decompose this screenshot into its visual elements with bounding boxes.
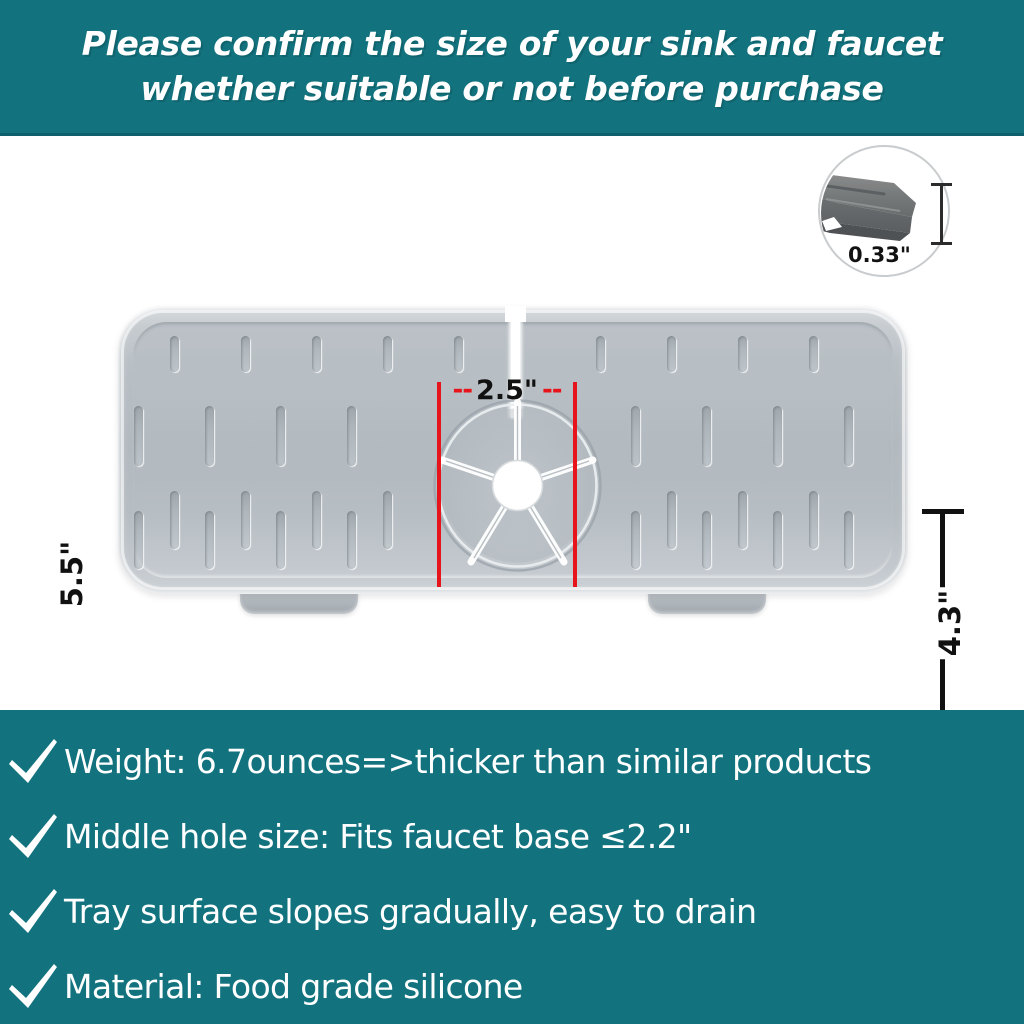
mat-ridge-slot: [205, 406, 214, 466]
mat-ridge-slot: [667, 491, 676, 549]
mat-ridge-slot: [631, 406, 640, 466]
thickness-label: 0.33": [848, 243, 911, 267]
mat-ridge-slot: [134, 511, 143, 569]
product-diagram: -- 2.5" -- 5.5" 4.3" 14.6": [0, 136, 1024, 710]
mat-ridge-slot: [844, 511, 853, 569]
dash-left: --: [452, 377, 472, 403]
feature-text: Tray surface slopes gradually, easy to d…: [64, 892, 757, 931]
header-banner: Please confirm the size of your sink and…: [0, 0, 1024, 136]
feature-item-hole-size: Middle hole size: Fits faucet base ≤2.2": [0, 799, 1024, 874]
feature-text: Material: Food grade silicone: [64, 967, 523, 1006]
mat-ridge-slot: [312, 491, 321, 549]
mat-ridge-slot: [596, 336, 605, 372]
center-drain-hole: [430, 398, 605, 573]
inner-height-label: 4.3": [932, 587, 968, 659]
callout-line-right: [573, 382, 577, 587]
drain-hole-icon: [430, 398, 605, 573]
mat-ridge-slot: [170, 336, 179, 372]
thickness-cap-bottom: [931, 242, 952, 245]
mat-top-split-cap: [505, 306, 526, 322]
inner-height-label-wrap: 4.3": [914, 587, 986, 659]
mat-ridge-slot: [773, 406, 782, 466]
checkmark-icon: [4, 883, 62, 941]
mat-ridge-slot: [134, 406, 143, 466]
feature-text: Weight: 6.7ounces=>thicker than similar …: [64, 742, 871, 781]
mat-ridge-slot: [347, 511, 356, 569]
mat-ridge-slot: [170, 491, 179, 549]
mat-ridge-slot: [773, 511, 782, 569]
checkmark-icon: [4, 808, 62, 866]
callout-line-left: [437, 382, 441, 587]
checkmark-icon: [4, 733, 62, 791]
mat-ridge-slot: [667, 336, 676, 372]
header-line-2: whether suitable or not before purchase: [140, 67, 883, 112]
dash-right: --: [542, 377, 562, 403]
mat-ridge-slot: [702, 406, 711, 466]
hole-width-label: 2.5": [476, 377, 538, 404]
mat-ridge-slot: [809, 491, 818, 549]
silicone-mat-illustration: [118, 306, 908, 616]
mat-ridge-slot: [383, 491, 392, 549]
thickness-dimension-line: [926, 183, 958, 245]
mat-ridge-slot: [276, 511, 285, 569]
mat-ridge-slot: [347, 406, 356, 466]
hole-width-dimension: -- 2.5" --: [437, 373, 577, 407]
mat-ridge-slot: [454, 336, 463, 372]
thickness-inset: 0.33": [818, 145, 1004, 285]
mat-ridge-slot: [312, 336, 321, 372]
mat-ridge-slot: [738, 336, 747, 372]
overall-height-dimension: 5.5": [52, 514, 92, 634]
feature-list: Weight: 6.7ounces=>thicker than similar …: [0, 710, 1024, 1024]
mat-ridge-slot: [702, 511, 711, 569]
checkmark-icon: [4, 958, 62, 1016]
feature-item-weight: Weight: 6.7ounces=>thicker than similar …: [0, 724, 1024, 799]
feature-item-slope: Tray surface slopes gradually, easy to d…: [0, 874, 1024, 949]
thickness-line: [940, 183, 943, 245]
feature-item-material: Material: Food grade silicone: [0, 949, 1024, 1024]
feature-text: Middle hole size: Fits faucet base ≤2.2": [64, 817, 692, 856]
mat-ridge-slot: [631, 511, 640, 569]
inner-height-dimension: 4.3": [916, 509, 976, 737]
mat-ridge-slot: [241, 491, 250, 549]
mat-ridge-slot: [205, 511, 214, 569]
header-line-1: Please confirm the size of your sink and…: [82, 22, 943, 67]
mat-ridge-slot: [276, 406, 285, 466]
overall-height-label: 5.5": [55, 541, 89, 607]
mat-ridge-slot: [809, 336, 818, 372]
mat-ridge-slot: [241, 336, 250, 372]
mat-ridge-slot: [383, 336, 392, 372]
mat-ridge-slot: [844, 406, 853, 466]
dimension-cap-top: [922, 509, 964, 514]
thickness-cap-top: [931, 183, 952, 186]
mat-ridge-slot: [738, 491, 747, 549]
